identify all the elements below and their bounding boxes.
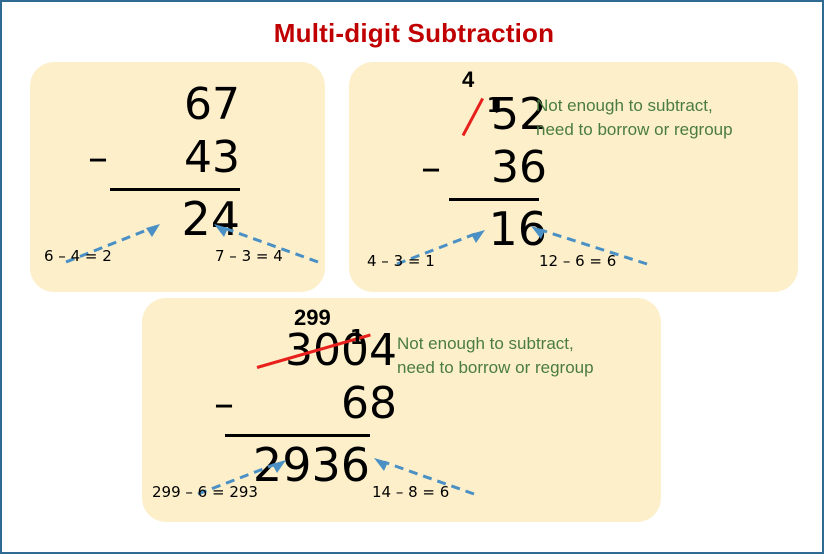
minuend-3: 3004	[252, 326, 397, 376]
regroup-note-3-line-1: Not enough to subtract,	[397, 332, 594, 356]
callout-right-1: 7 – 3 = 4	[215, 247, 283, 265]
subtrahend-3: 68	[252, 376, 397, 432]
regroup-note-3-line-2: need to borrow or regroup	[397, 356, 594, 380]
callout-left-2: 4 – 3 = 1	[367, 252, 435, 270]
minuend-2: 52	[457, 90, 547, 140]
page-title: Multi-digit Subtraction	[2, 18, 824, 49]
regroup-note-2-line-2: need to borrow or regroup	[536, 118, 733, 142]
callout-left-3: 299 – 6 = 293	[152, 483, 258, 501]
example-panel-2: 4 52 1 – 36 16 Not enough to subtract, n…	[349, 62, 798, 292]
carry-digit-2: 1	[487, 94, 501, 116]
example-panel-1: 67 – 43 24 6 – 4 = 2 7 – 3 = 4	[30, 62, 325, 292]
calculation-rule-1	[110, 188, 240, 191]
regroup-note-2-line-1: Not enough to subtract,	[536, 94, 733, 118]
callout-right-3: 14 – 8 = 6	[372, 483, 449, 501]
minus-sign-1: –	[88, 130, 108, 186]
carry-digit-3: 1	[350, 326, 364, 348]
example-panel-3: 299 3004 1 – 68 2936 Not enough to subtr…	[142, 298, 661, 522]
minus-sign-3: –	[214, 376, 234, 432]
callout-right-2: 12 – 6 = 6	[539, 252, 616, 270]
regroup-note-2: Not enough to subtract, need to borrow o…	[536, 94, 733, 142]
subtrahend-1: 43	[110, 130, 240, 186]
regrouped-value-2: 4	[462, 68, 474, 92]
callout-left-1: 6 – 4 = 2	[44, 247, 112, 265]
regroup-note-3: Not enough to subtract, need to borrow o…	[397, 332, 594, 380]
minuend-1: 67	[110, 80, 240, 130]
subtrahend-2: 36	[457, 140, 547, 196]
calculation-rule-3	[225, 434, 370, 437]
worksheet-canvas: Multi-digit Subtraction 67 – 43 24 6 – 4…	[0, 0, 824, 554]
calculation-rule-2	[449, 198, 539, 201]
minus-sign-2: –	[421, 140, 441, 196]
